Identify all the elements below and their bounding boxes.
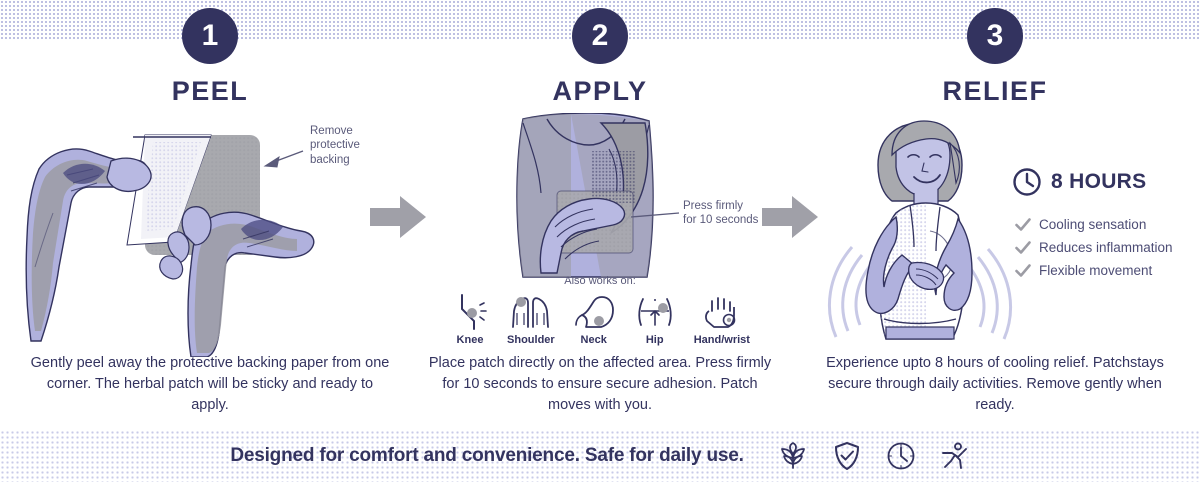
remove-backing-callout: Remove protective backing	[310, 124, 360, 167]
body-part-hip[interactable]: Hip	[633, 293, 677, 346]
shield-check-icon	[832, 441, 862, 471]
step-number-badge-1: 1	[182, 8, 238, 64]
body-part-label: Shoulder	[507, 334, 555, 346]
check-icon	[1015, 218, 1031, 232]
body-part-icon-row: Knee Shoulder Neck	[450, 293, 750, 346]
footer-tagline: Designed for comfort and convenience. Sa…	[230, 445, 743, 467]
body-part-shoulder[interactable]: Shoulder	[507, 293, 555, 346]
shoulder-icon	[508, 293, 554, 331]
neck-icon	[572, 293, 616, 331]
benefit-label: Reduces inflammation	[1039, 240, 1173, 255]
step-number-badge-3: 3	[967, 8, 1023, 64]
step-number-badge-2: 2	[572, 8, 628, 64]
check-icon	[1015, 264, 1031, 278]
apply-illustration: Press firmly for 10 seconds Also works o…	[405, 107, 795, 353]
herbal-leaf-icon	[778, 441, 808, 471]
benefits-list: Cooling sensation Reduces inflammation F…	[1015, 217, 1173, 278]
step-caption-1: Gently peel away the protective backing …	[30, 353, 390, 430]
eight-hours-badge: 8 HOURS	[1012, 167, 1146, 197]
body-part-label: Hip	[646, 334, 664, 346]
callout-line-1: Remove	[310, 124, 360, 138]
hand-wrist-icon	[700, 293, 744, 331]
body-part-neck[interactable]: Neck	[572, 293, 616, 346]
benefit-label: Flexible movement	[1039, 263, 1152, 278]
press-firmly-callout: Press firmly for 10 seconds	[683, 199, 758, 228]
benefit-item: Reduces inflammation	[1015, 240, 1173, 255]
benefit-item: Flexible movement	[1015, 263, 1173, 278]
footer-icon-group	[778, 441, 970, 471]
step-caption-2: Place patch directly on the affected are…	[420, 353, 780, 430]
callout-line-2: protective	[310, 138, 360, 152]
peel-illustration: Remove protective backing	[15, 107, 405, 353]
step-panel-peel: 1 PEEL	[15, 0, 405, 430]
clock-icon	[1012, 167, 1042, 197]
clock-icon	[886, 441, 916, 471]
remove-backing-arrow	[265, 151, 303, 167]
body-part-label: Neck	[581, 334, 607, 346]
step-title-3: RELIEF	[942, 76, 1047, 107]
step-title-1: PEEL	[172, 76, 249, 107]
step-title-2: APPLY	[552, 76, 647, 107]
body-part-label: Knee	[457, 334, 484, 346]
body-part-hand-wrist[interactable]: Hand/wrist	[694, 293, 750, 346]
step-panel-relief: 3 RELIEF	[800, 0, 1190, 430]
hours-badge-text: 8 HOURS	[1051, 170, 1146, 194]
callout-line-3: backing	[310, 153, 360, 167]
body-part-knee[interactable]: Knee	[450, 293, 490, 346]
press-firmly-line-2: for 10 seconds	[683, 213, 758, 227]
check-icon	[1015, 241, 1031, 255]
hip-icon	[633, 293, 677, 331]
relief-illustration: 8 HOURS Cooling sensation Reduces inflam…	[800, 107, 1190, 353]
body-part-label: Hand/wrist	[694, 334, 750, 346]
active-person-icon	[940, 441, 970, 471]
step-panel-apply: 2 APPLY	[405, 0, 795, 430]
footer-band: Designed for comfort and convenience. Sa…	[0, 430, 1200, 482]
also-works-on-label: Also works on:	[405, 275, 795, 287]
benefit-item: Cooling sensation	[1015, 217, 1173, 232]
press-firmly-line-1: Press firmly	[683, 199, 758, 213]
knee-icon	[450, 293, 490, 331]
step-caption-3: Experience upto 8 hours of cooling relie…	[815, 353, 1175, 430]
benefit-label: Cooling sensation	[1039, 217, 1146, 232]
